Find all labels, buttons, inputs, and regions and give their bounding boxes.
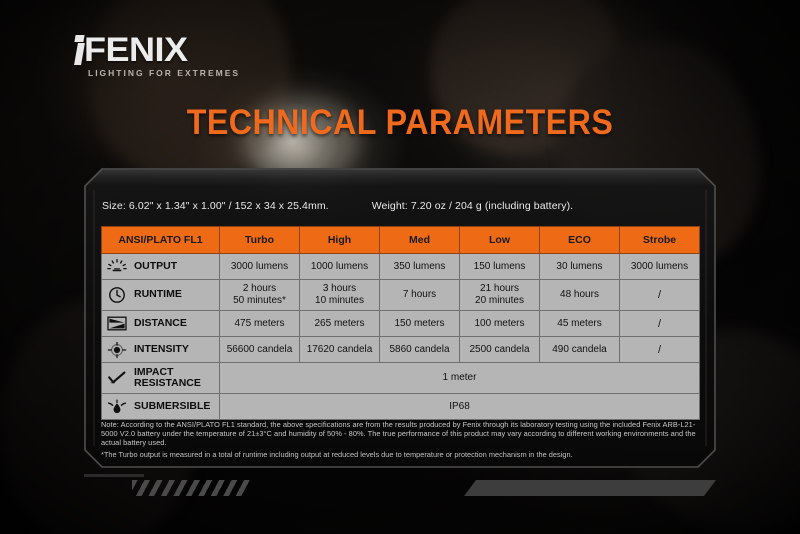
beam-icon <box>106 315 128 333</box>
row-label-text: RUNTIME <box>134 289 182 301</box>
clock-icon <box>106 286 128 304</box>
panel-top-bevel <box>84 170 716 186</box>
header-eco: ECO <box>540 227 620 254</box>
row-label-text: DISTANCE <box>134 318 187 330</box>
footnote-main: Note: According to the ANSI/PLATO FL1 st… <box>101 420 701 448</box>
cell-submersible-value: IP68 <box>220 394 700 420</box>
cell-runtime-med: 7 hours <box>380 280 460 311</box>
header-standard: ANSI/PLATO FL1 <box>102 227 220 254</box>
impact-label-line2: RESISTANCE <box>134 377 201 389</box>
cell-distance-eco: 45 meters <box>540 311 620 337</box>
table-row: INTENSITY 56600 candela 17620 candela 58… <box>102 337 700 363</box>
row-label-impact-resistance: IMPACT RESISTANCE <box>102 363 220 394</box>
table-header-row: ANSI/PLATO FL1 Turbo High Med Low ECO St… <box>102 227 700 254</box>
size-text: Size: 6.02" x 1.34" x 1.00" / 152 x 34 x… <box>102 200 329 212</box>
row-label-runtime: RUNTIME <box>102 280 220 311</box>
cell-runtime-low: 21 hours20 minutes <box>460 280 540 311</box>
cell-runtime-high: 3 hours10 minutes <box>300 280 380 311</box>
water-drop-icon <box>106 398 128 416</box>
cell-intensity-med: 5860 candela <box>380 337 460 363</box>
footnote-asterisk: *The Turbo output is measured in a total… <box>101 450 701 459</box>
cell-output-strobe: 3000 lumens <box>620 254 700 280</box>
row-label-text: IMPACT RESISTANCE <box>134 367 201 390</box>
table-row: SUBMERSIBLE IP68 <box>102 394 700 420</box>
dimensions-line: Size: 6.02" x 1.34" x 1.00" / 152 x 34 x… <box>102 200 573 212</box>
cell-distance-low: 100 meters <box>460 311 540 337</box>
cell-output-turbo: 3000 lumens <box>220 254 300 280</box>
cell-impact-value: 1 meter <box>220 363 700 394</box>
crosshair-icon <box>106 341 128 359</box>
header-high: High <box>300 227 380 254</box>
header-med: Med <box>380 227 460 254</box>
cell-intensity-eco: 490 candela <box>540 337 620 363</box>
row-label-output: OUTPUT <box>102 254 220 280</box>
cell-runtime-turbo: 2 hours50 minutes* <box>220 280 300 311</box>
table-row: DISTANCE 475 meters 265 meters 150 meter… <box>102 311 700 337</box>
spec-sheet-page: FENIX LIGHTING FOR EXTREMES TECHNICAL PA… <box>0 0 800 534</box>
header-turbo: Turbo <box>220 227 300 254</box>
cell-runtime-strobe: / <box>620 280 700 311</box>
cell-intensity-strobe: / <box>620 337 700 363</box>
table-row: RUNTIME 2 hours50 minutes* 3 hours10 min… <box>102 280 700 311</box>
hatch-stripes-icon <box>132 480 252 496</box>
cell-distance-med: 150 meters <box>380 311 460 337</box>
cell-distance-strobe: / <box>620 311 700 337</box>
logo-wordmark: FENIX <box>84 33 187 67</box>
impact-label-line1: IMPACT <box>134 366 173 378</box>
cell-intensity-turbo: 56600 candela <box>220 337 300 363</box>
check-hammer-icon <box>106 369 128 387</box>
row-label-text: INTENSITY <box>134 344 189 356</box>
cell-intensity-high: 17620 candela <box>300 337 380 363</box>
logo-tagline: LIGHTING FOR EXTREMES <box>88 68 240 78</box>
sunburst-icon <box>106 258 128 276</box>
row-label-distance: DISTANCE <box>102 311 220 337</box>
cell-distance-high: 265 meters <box>300 311 380 337</box>
cell-output-eco: 30 lumens <box>540 254 620 280</box>
fenix-logo: FENIX LIGHTING FOR EXTREMES <box>72 33 262 81</box>
cell-distance-turbo: 475 meters <box>220 311 300 337</box>
header-strobe: Strobe <box>620 227 700 254</box>
row-label-text: OUTPUT <box>134 261 177 273</box>
cell-output-high: 1000 lumens <box>300 254 380 280</box>
header-low: Low <box>460 227 540 254</box>
table-row: IMPACT RESISTANCE 1 meter <box>102 363 700 394</box>
cell-output-med: 350 lumens <box>380 254 460 280</box>
cell-intensity-low: 2500 candela <box>460 337 540 363</box>
row-label-intensity: INTENSITY <box>102 337 220 363</box>
specifications-table: ANSI/PLATO FL1 Turbo High Med Low ECO St… <box>101 226 700 420</box>
page-title: TECHNICAL PARAMETERS <box>32 104 768 142</box>
row-label-text: SUBMERSIBLE <box>134 401 210 413</box>
cell-output-low: 150 lumens <box>460 254 540 280</box>
row-label-submersible: SUBMERSIBLE <box>102 394 220 420</box>
cell-runtime-eco: 48 hours <box>540 280 620 311</box>
table-row: OUTPUT 3000 lumens 1000 lumens 350 lumen… <box>102 254 700 280</box>
panel-bottom-decor <box>84 474 716 498</box>
decor-bar <box>464 480 716 496</box>
weight-text: Weight: 7.20 oz / 204 g (including batte… <box>372 200 574 212</box>
